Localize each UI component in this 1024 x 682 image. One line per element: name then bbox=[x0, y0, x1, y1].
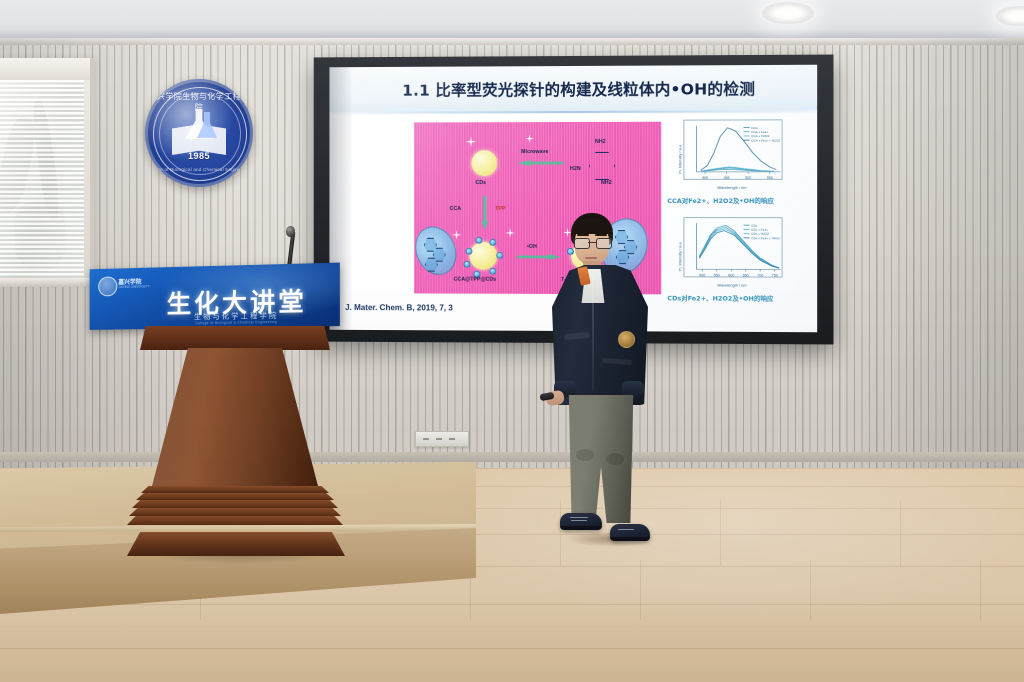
scheme-label-nh2: NH2 bbox=[595, 139, 606, 145]
chart1-y-axis-label: PL Intensity / a.u. bbox=[677, 241, 682, 271]
carbon-dot-icon bbox=[469, 242, 497, 270]
knee-crease bbox=[576, 449, 594, 461]
podium-step bbox=[127, 516, 343, 525]
hair-fringe bbox=[572, 222, 612, 234]
podium-step bbox=[132, 500, 338, 508]
chart1-plot: 500550600650700750CDsCDs + Fe2+CDs + H2O… bbox=[684, 218, 783, 279]
slide-title: 1.1 比率型荧光探针的构建及线粒体内•OH的检测 bbox=[402, 77, 803, 101]
scheme-label-tpp: TPP bbox=[495, 206, 505, 212]
shoe-sole bbox=[610, 537, 650, 541]
shoe-sole bbox=[560, 526, 602, 530]
chart-tick-label: 600 bbox=[728, 273, 734, 277]
podium-step bbox=[141, 486, 329, 493]
baseboard bbox=[0, 452, 1024, 462]
scheme-label-nh2: NH2 bbox=[601, 180, 612, 186]
chart0-plot: 400450500550CCACCA + Fe2+CCA + H2O2CCA +… bbox=[684, 120, 783, 181]
pants-shading bbox=[566, 395, 636, 523]
sparkle-icon bbox=[525, 134, 534, 143]
window-glare bbox=[0, 80, 84, 284]
shoe-lace bbox=[570, 517, 588, 518]
functional-group-dot bbox=[465, 248, 472, 255]
jacket-zipper bbox=[592, 273, 594, 391]
shoe-lace bbox=[571, 520, 587, 521]
podium-base bbox=[127, 532, 345, 556]
chart-cds-response: 500550600650700750CDsCDs + Fe2+CDs + H2O… bbox=[683, 217, 782, 278]
chart-tick-label: 500 bbox=[745, 176, 751, 180]
scheme-label-product-left: CCA@TPP@CDs bbox=[454, 277, 497, 283]
microphone-icon[interactable] bbox=[286, 226, 295, 237]
legend-label: CCA + Fe2+ + H2O2 bbox=[751, 138, 780, 142]
chart-tick-label: 550 bbox=[714, 273, 720, 277]
eyebrow bbox=[595, 234, 607, 236]
window bbox=[0, 58, 94, 284]
scheme-label-cds: CDs bbox=[475, 180, 486, 186]
legend-label: CDs + Fe2+ + H2O2 bbox=[751, 236, 780, 240]
benzene-ring-icon bbox=[589, 152, 615, 180]
carbon-dot-icon bbox=[471, 150, 497, 176]
chart-tick-label: 500 bbox=[699, 273, 705, 277]
chart-tick-label: 400 bbox=[702, 176, 708, 180]
chart0-x-axis-label: Wavelength / nm bbox=[683, 185, 780, 190]
chart-tick-label: 650 bbox=[743, 273, 749, 277]
functional-group-dot bbox=[489, 239, 496, 246]
jacket-cuff bbox=[622, 381, 644, 397]
college-emblem: 嘉兴学院生物与化学工程学院 1985 College of Biological… bbox=[145, 79, 253, 187]
window-sill bbox=[0, 278, 92, 287]
chart-series-cca-h2o2 bbox=[701, 167, 774, 171]
functional-group-dot bbox=[489, 268, 496, 275]
sparkle-icon bbox=[452, 230, 462, 240]
chart-tick-label: 450 bbox=[724, 176, 730, 180]
knee-crease bbox=[606, 453, 624, 465]
lecture-hall-photo: 嘉兴学院生物与化学工程学院 1985 College of Biological… bbox=[0, 0, 1024, 682]
podium-step bbox=[129, 508, 341, 516]
chart-tick-label: 750 bbox=[772, 274, 778, 278]
emblem-year: 1985 bbox=[145, 151, 253, 161]
wall-power-outlet[interactable] bbox=[415, 431, 469, 447]
scheme-label-cca: CCA bbox=[450, 206, 461, 212]
chart1-caption: CDs对Fe2+、H2O2及•OH的响应 bbox=[667, 293, 773, 302]
glasses-lens bbox=[596, 238, 612, 249]
scheme-label-h2n: H2N bbox=[570, 166, 581, 172]
scheme-label-microwave: Microwave bbox=[521, 149, 548, 155]
glasses-icon bbox=[574, 238, 610, 247]
mouth bbox=[585, 257, 597, 259]
outlet-slot bbox=[449, 438, 455, 440]
jacket-badge-icon bbox=[618, 331, 635, 348]
podium-banner: 嘉兴学院 JIAXING UNIVERSITY 生化大讲堂 生物与化学工程学院 … bbox=[90, 263, 340, 330]
functional-group-dot bbox=[475, 237, 482, 244]
shoe-lace bbox=[618, 529, 634, 530]
ceiling-downlight-icon bbox=[762, 2, 814, 24]
functional-group-dot bbox=[464, 261, 471, 268]
sparkle-icon bbox=[505, 228, 515, 238]
chart0-y-axis-label: PL Intensity / a.u. bbox=[677, 144, 682, 174]
functional-group-dot bbox=[496, 252, 503, 259]
emblem-english-text: College of Biological and Chemical Engin… bbox=[145, 167, 253, 172]
glasses-lens bbox=[574, 238, 590, 249]
glasses-bridge bbox=[588, 242, 596, 243]
scheme-label-oh: •OH bbox=[527, 244, 537, 250]
chart0-caption: CCA对Fe2+、H2O2及•OH的响应 bbox=[667, 196, 774, 205]
sparkle-icon bbox=[465, 136, 476, 147]
chart-tick-label: 700 bbox=[757, 274, 763, 278]
podium-step bbox=[136, 493, 334, 500]
podium-top bbox=[140, 326, 330, 350]
chart-cca-response: 400450500550CCACCA + Fe2+CCA + H2O2CCA +… bbox=[683, 119, 782, 180]
microwave-arrow-icon bbox=[517, 160, 563, 166]
chart-tick-label: 550 bbox=[767, 176, 773, 180]
eyebrow bbox=[577, 234, 589, 236]
presenter bbox=[540, 213, 660, 548]
outlet-slot bbox=[436, 438, 442, 440]
window-header bbox=[0, 58, 90, 80]
slide-citation: J. Mater. Chem. B, 2019, 7, 3 bbox=[345, 303, 453, 312]
chart1-x-axis-label: Wavelength / nm bbox=[683, 282, 780, 287]
outlet-slot bbox=[423, 438, 429, 440]
down-arrow-icon bbox=[481, 196, 488, 230]
